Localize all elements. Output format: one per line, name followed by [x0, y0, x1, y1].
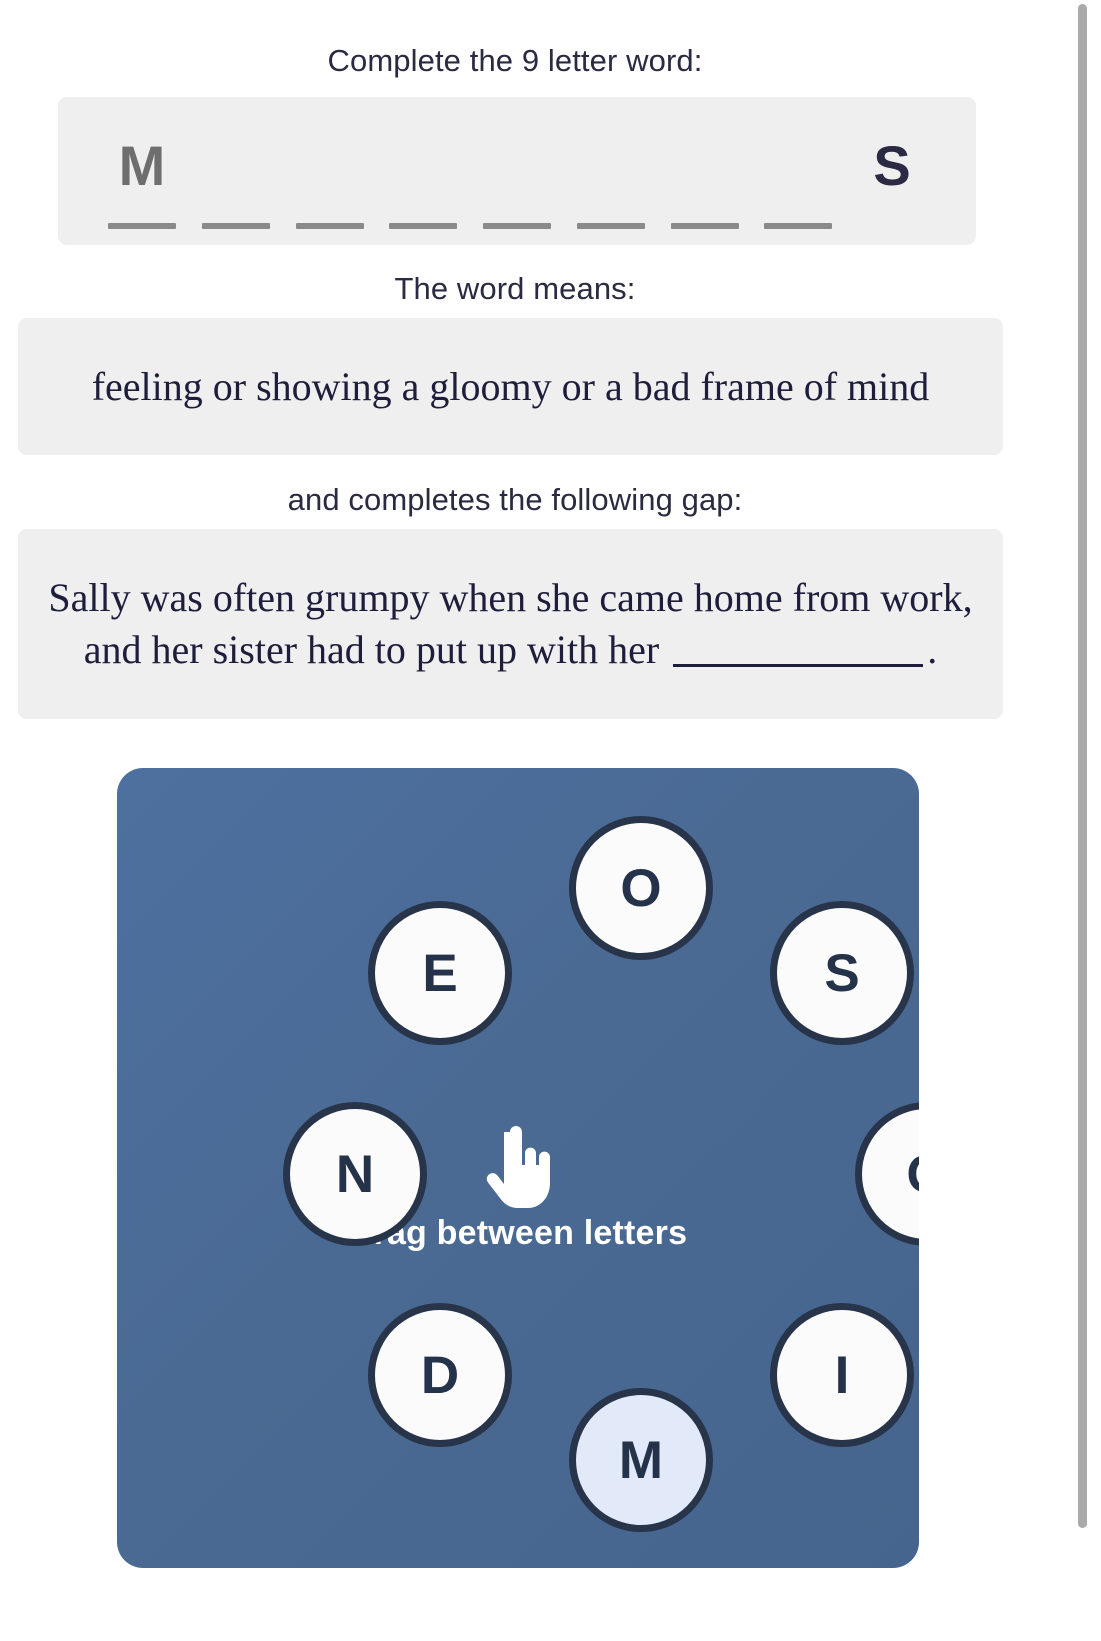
scrollbar-thumb[interactable] — [1078, 4, 1087, 1528]
word-slot-7[interactable] — [663, 127, 747, 229]
sentence-gap-blank — [673, 664, 923, 667]
definition-text: feeling or showing a gloomy or a bad fra… — [70, 361, 952, 413]
pointing-hand-icon — [480, 1126, 556, 1208]
sentence-before-gap: Sally was often grumpy when she came hom… — [48, 575, 972, 672]
word-slots-row: MS — [100, 119, 934, 229]
word-slot-3[interactable] — [288, 127, 372, 229]
word-slot-2[interactable] — [194, 127, 278, 229]
wheel-letter-o-0[interactable]: O — [569, 816, 713, 960]
completes-gap-label: and completes the following gap: — [0, 481, 1030, 518]
word-means-label: The word means: — [0, 270, 1030, 307]
word-slot-1[interactable]: M — [100, 127, 184, 229]
letter-wheel-panel[interactable]: Drag between letters OSOIMDNE — [117, 768, 919, 1568]
wheel-letter-i-3[interactable]: I — [770, 1303, 914, 1447]
word-slot-6[interactable] — [569, 127, 653, 229]
sentence-after-gap: . — [927, 627, 937, 672]
wheel-letter-n-6[interactable]: N — [283, 1102, 427, 1246]
word-slot-4[interactable] — [381, 127, 465, 229]
puzzle-page: Complete the 9 letter word: MS The word … — [0, 0, 1101, 1641]
word-slot-5[interactable] — [475, 127, 559, 229]
wheel-letter-m-4[interactable]: M — [569, 1388, 713, 1532]
content-column: Complete the 9 letter word: MS The word … — [0, 0, 1030, 1641]
complete-word-label: Complete the 9 letter word: — [0, 42, 1030, 79]
sentence-panel: Sally was often grumpy when she came hom… — [18, 529, 1003, 719]
word-slot-letter: S — [873, 138, 910, 194]
wheel-letter-o-2[interactable]: O — [855, 1102, 919, 1246]
definition-panel: feeling or showing a gloomy or a bad fra… — [18, 318, 1003, 455]
scrollbar-track[interactable] — [1081, 0, 1095, 1641]
wheel-letter-e-7[interactable]: E — [368, 901, 512, 1045]
word-slot-8[interactable] — [756, 127, 840, 229]
wheel-letter-d-5[interactable]: D — [368, 1303, 512, 1447]
word-slot-letter: M — [119, 138, 166, 194]
word-slot-9[interactable]: S — [850, 127, 934, 229]
sentence-text: Sally was often grumpy when she came hom… — [18, 572, 1003, 676]
word-slots-panel: MS — [58, 97, 976, 245]
wheel-letter-s-1[interactable]: S — [770, 901, 914, 1045]
